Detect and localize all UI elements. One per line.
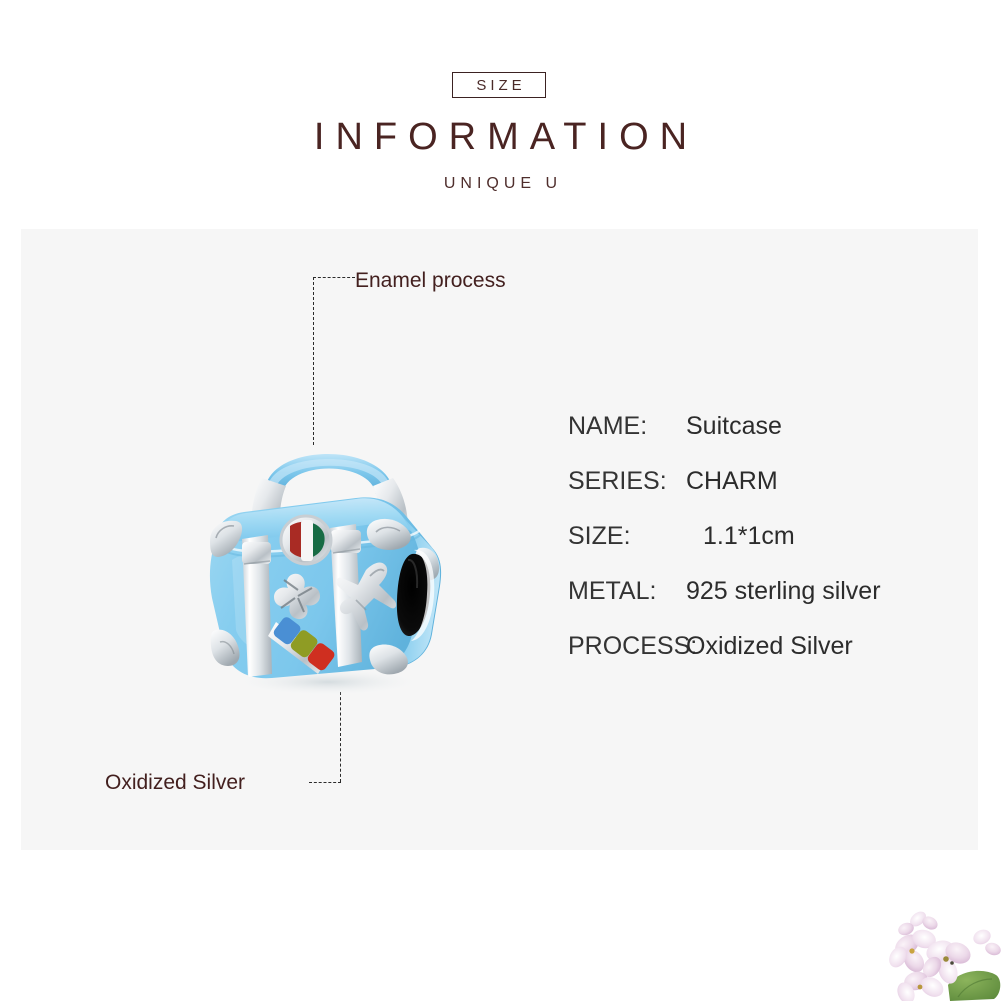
product-image-suitcase-charm xyxy=(180,420,470,705)
leader-line-oxidized-vertical xyxy=(340,692,341,782)
annotation-label-enamel: Enamel process xyxy=(355,269,506,293)
page-header: SIZE INFORMATION UNIQUE U xyxy=(0,0,1001,229)
spec-value-metal: 925 sterling silver xyxy=(686,577,881,606)
spec-label-metal: METAL: xyxy=(568,577,686,606)
spec-value-series: CHARM xyxy=(686,467,778,496)
spec-row-size: SIZE: 1.1*1cm xyxy=(568,522,968,577)
spec-label-series: SERIES: xyxy=(568,467,686,496)
page-title: INFORMATION xyxy=(0,116,1001,159)
spec-value-process: Oxidized Silver xyxy=(686,632,853,661)
blossom-c xyxy=(894,969,947,1001)
spec-row-name: NAME: Suitcase xyxy=(568,412,968,467)
leader-line-enamel-horizontal xyxy=(313,277,355,278)
page-subtitle: UNIQUE U xyxy=(0,175,1001,193)
spec-value-size: 1.1*1cm xyxy=(686,522,795,551)
size-badge: SIZE xyxy=(452,72,546,98)
spec-label-size: SIZE: xyxy=(568,522,686,551)
spec-row-series: SERIES: CHARM xyxy=(568,467,968,522)
spec-label-name: NAME: xyxy=(568,412,686,441)
spec-row-process: PROCESS: Oxidized Silver xyxy=(568,632,968,687)
italian-flag-sticker xyxy=(281,516,331,564)
annotation-label-oxidized: Oxidized Silver xyxy=(105,771,245,795)
spec-value-name: Suitcase xyxy=(686,412,782,441)
product-spec-list: NAME: Suitcase SERIES: CHARM SIZE: 1.1*1… xyxy=(568,412,968,687)
size-badge-label: SIZE xyxy=(472,77,525,94)
spec-row-metal: METAL: 925 sterling silver xyxy=(568,577,968,632)
leader-line-oxidized-horizontal xyxy=(309,782,341,783)
cherry-blossom-decoration xyxy=(862,893,1001,1001)
spec-label-process: PROCESS: xyxy=(568,632,686,661)
